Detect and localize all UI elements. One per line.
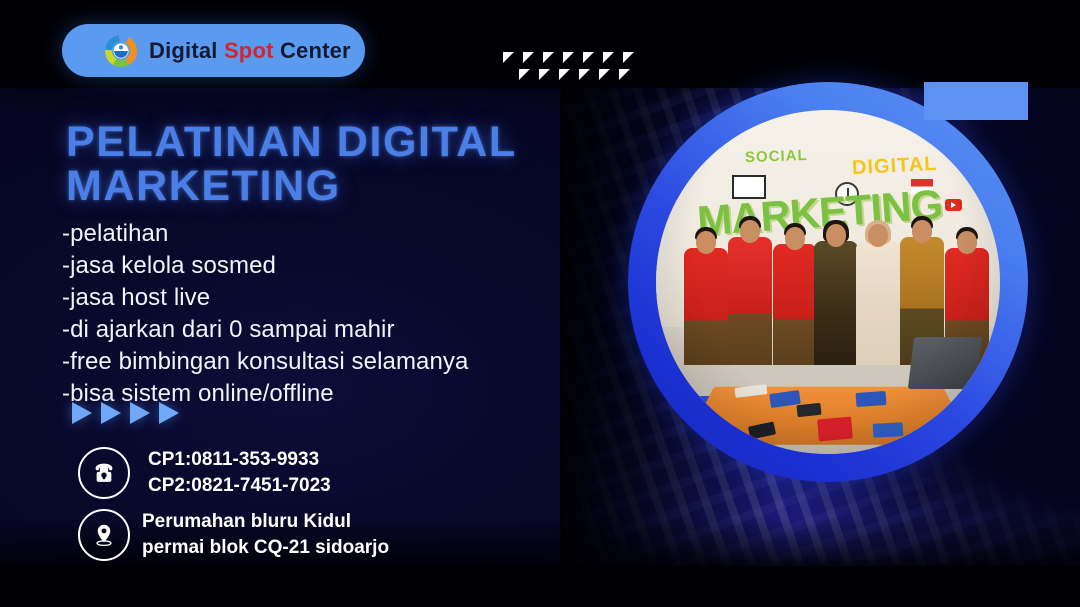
triangle-icon <box>543 52 554 63</box>
colorful-ring-logo-icon <box>104 34 138 68</box>
address-lines: Perumahan bluru Kidul permai blok CQ-21 … <box>142 509 389 561</box>
triangle-icon <box>599 69 610 80</box>
team-photo-circle: SOCIAL DIGITAL MARKETING <box>628 82 1028 482</box>
headline-line-1: PELATINAN DIGITAL <box>66 120 686 164</box>
contact-address[interactable]: Perumahan bluru Kidul permai blok CQ-21 … <box>78 509 389 561</box>
address-line-2: permai blok CQ-21 sidoarjo <box>142 535 389 561</box>
promo-banner: Digital Spot Center PELATINAN DIGITAL MA… <box>0 0 1080 607</box>
phone-numbers: CP1:0811-353-9933 CP2:0821-7451-7023 <box>148 447 331 499</box>
list-item: -jasa host live <box>62 282 468 314</box>
halftone-row <box>503 52 634 63</box>
contact-phone[interactable]: CP1:0811-353-9933 CP2:0821-7451-7023 <box>78 447 331 499</box>
triangle-icon <box>619 69 630 80</box>
brand-name-part3: Center <box>280 38 351 63</box>
triangle-icon <box>539 69 550 80</box>
address-line-1: Perumahan bluru Kidul <box>142 509 389 535</box>
triangle-icon <box>603 52 614 63</box>
triangle-icon <box>579 69 590 80</box>
team-photo: SOCIAL DIGITAL MARKETING <box>656 110 1000 454</box>
halftone-triangle-decoration <box>503 52 634 80</box>
play-arrow-icon <box>159 402 179 424</box>
triangle-icon <box>583 52 594 63</box>
page-title: PELATINAN DIGITAL MARKETING <box>66 120 686 208</box>
phone-line-1: CP1:0811-353-9933 <box>148 447 331 473</box>
offer-list: -pelatihan -jasa kelola sosmed -jasa hos… <box>62 218 468 410</box>
brand-name-part1: Digital <box>149 38 218 63</box>
triangle-icon <box>503 52 514 63</box>
brand-name: Digital Spot Center <box>149 38 351 64</box>
list-item: -jasa kelola sosmed <box>62 250 468 282</box>
triangle-icon <box>519 69 530 80</box>
halftone-row <box>519 69 634 80</box>
triangle-icon <box>623 52 634 63</box>
list-item: -pelatihan <box>62 218 468 250</box>
triangle-icon <box>523 52 534 63</box>
list-item: -free bimbingan konsultasi selamanya <box>62 346 468 378</box>
telephone-icon <box>78 447 130 499</box>
play-arrow-icon <box>72 402 92 424</box>
list-item: -di ajarkan dari 0 sampai mahir <box>62 314 468 346</box>
location-pin-icon <box>78 509 130 561</box>
headline-line-2: MARKETING <box>66 164 686 208</box>
photo-vignette <box>656 110 1000 454</box>
play-arrow-icon <box>130 402 150 424</box>
triangle-icon <box>563 52 574 63</box>
triangle-icon <box>559 69 570 80</box>
phone-line-2: CP2:0821-7451-7023 <box>148 473 331 499</box>
arrow-decoration <box>72 402 179 424</box>
play-arrow-icon <box>101 402 121 424</box>
brand-logo-pill: Digital Spot Center <box>62 24 365 77</box>
brand-name-part2: Spot <box>224 38 274 63</box>
